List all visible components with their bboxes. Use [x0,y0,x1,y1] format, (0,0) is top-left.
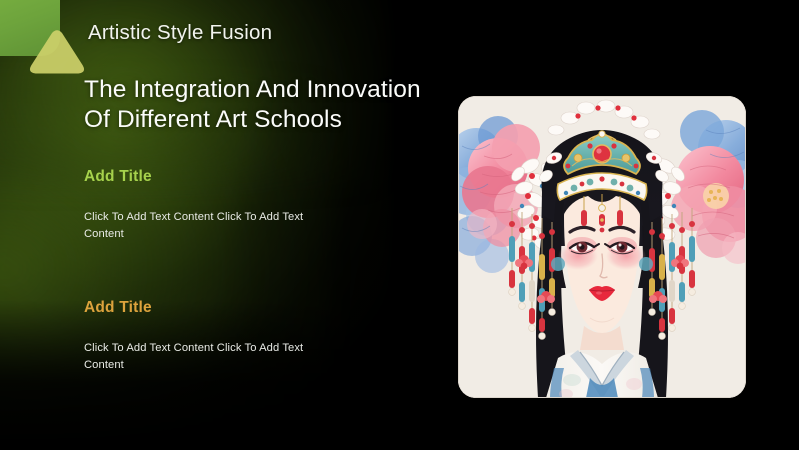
slide-headline: The Integration And Innovation Of Differ… [84,75,444,135]
block-1-title[interactable]: Add Title [84,167,384,187]
block-2-body[interactable]: Click To Add Text Content Click To Add T… [84,340,319,373]
presentation-slide: Artistic Style Fusion The Integration An… [0,0,799,450]
slide-eyebrow-title: Artistic Style Fusion [88,20,272,46]
illustration-card[interactable] [458,96,746,398]
content-block-2: Add Title Click To Add Text Content Clic… [84,298,384,373]
corner-decoration [0,0,86,72]
block-1-body[interactable]: Click To Add Text Content Click To Add T… [84,209,319,242]
chinese-opera-woman-portrait [458,96,746,398]
content-block-1: Add Title Click To Add Text Content Clic… [84,167,384,242]
block-2-title[interactable]: Add Title [84,298,384,318]
